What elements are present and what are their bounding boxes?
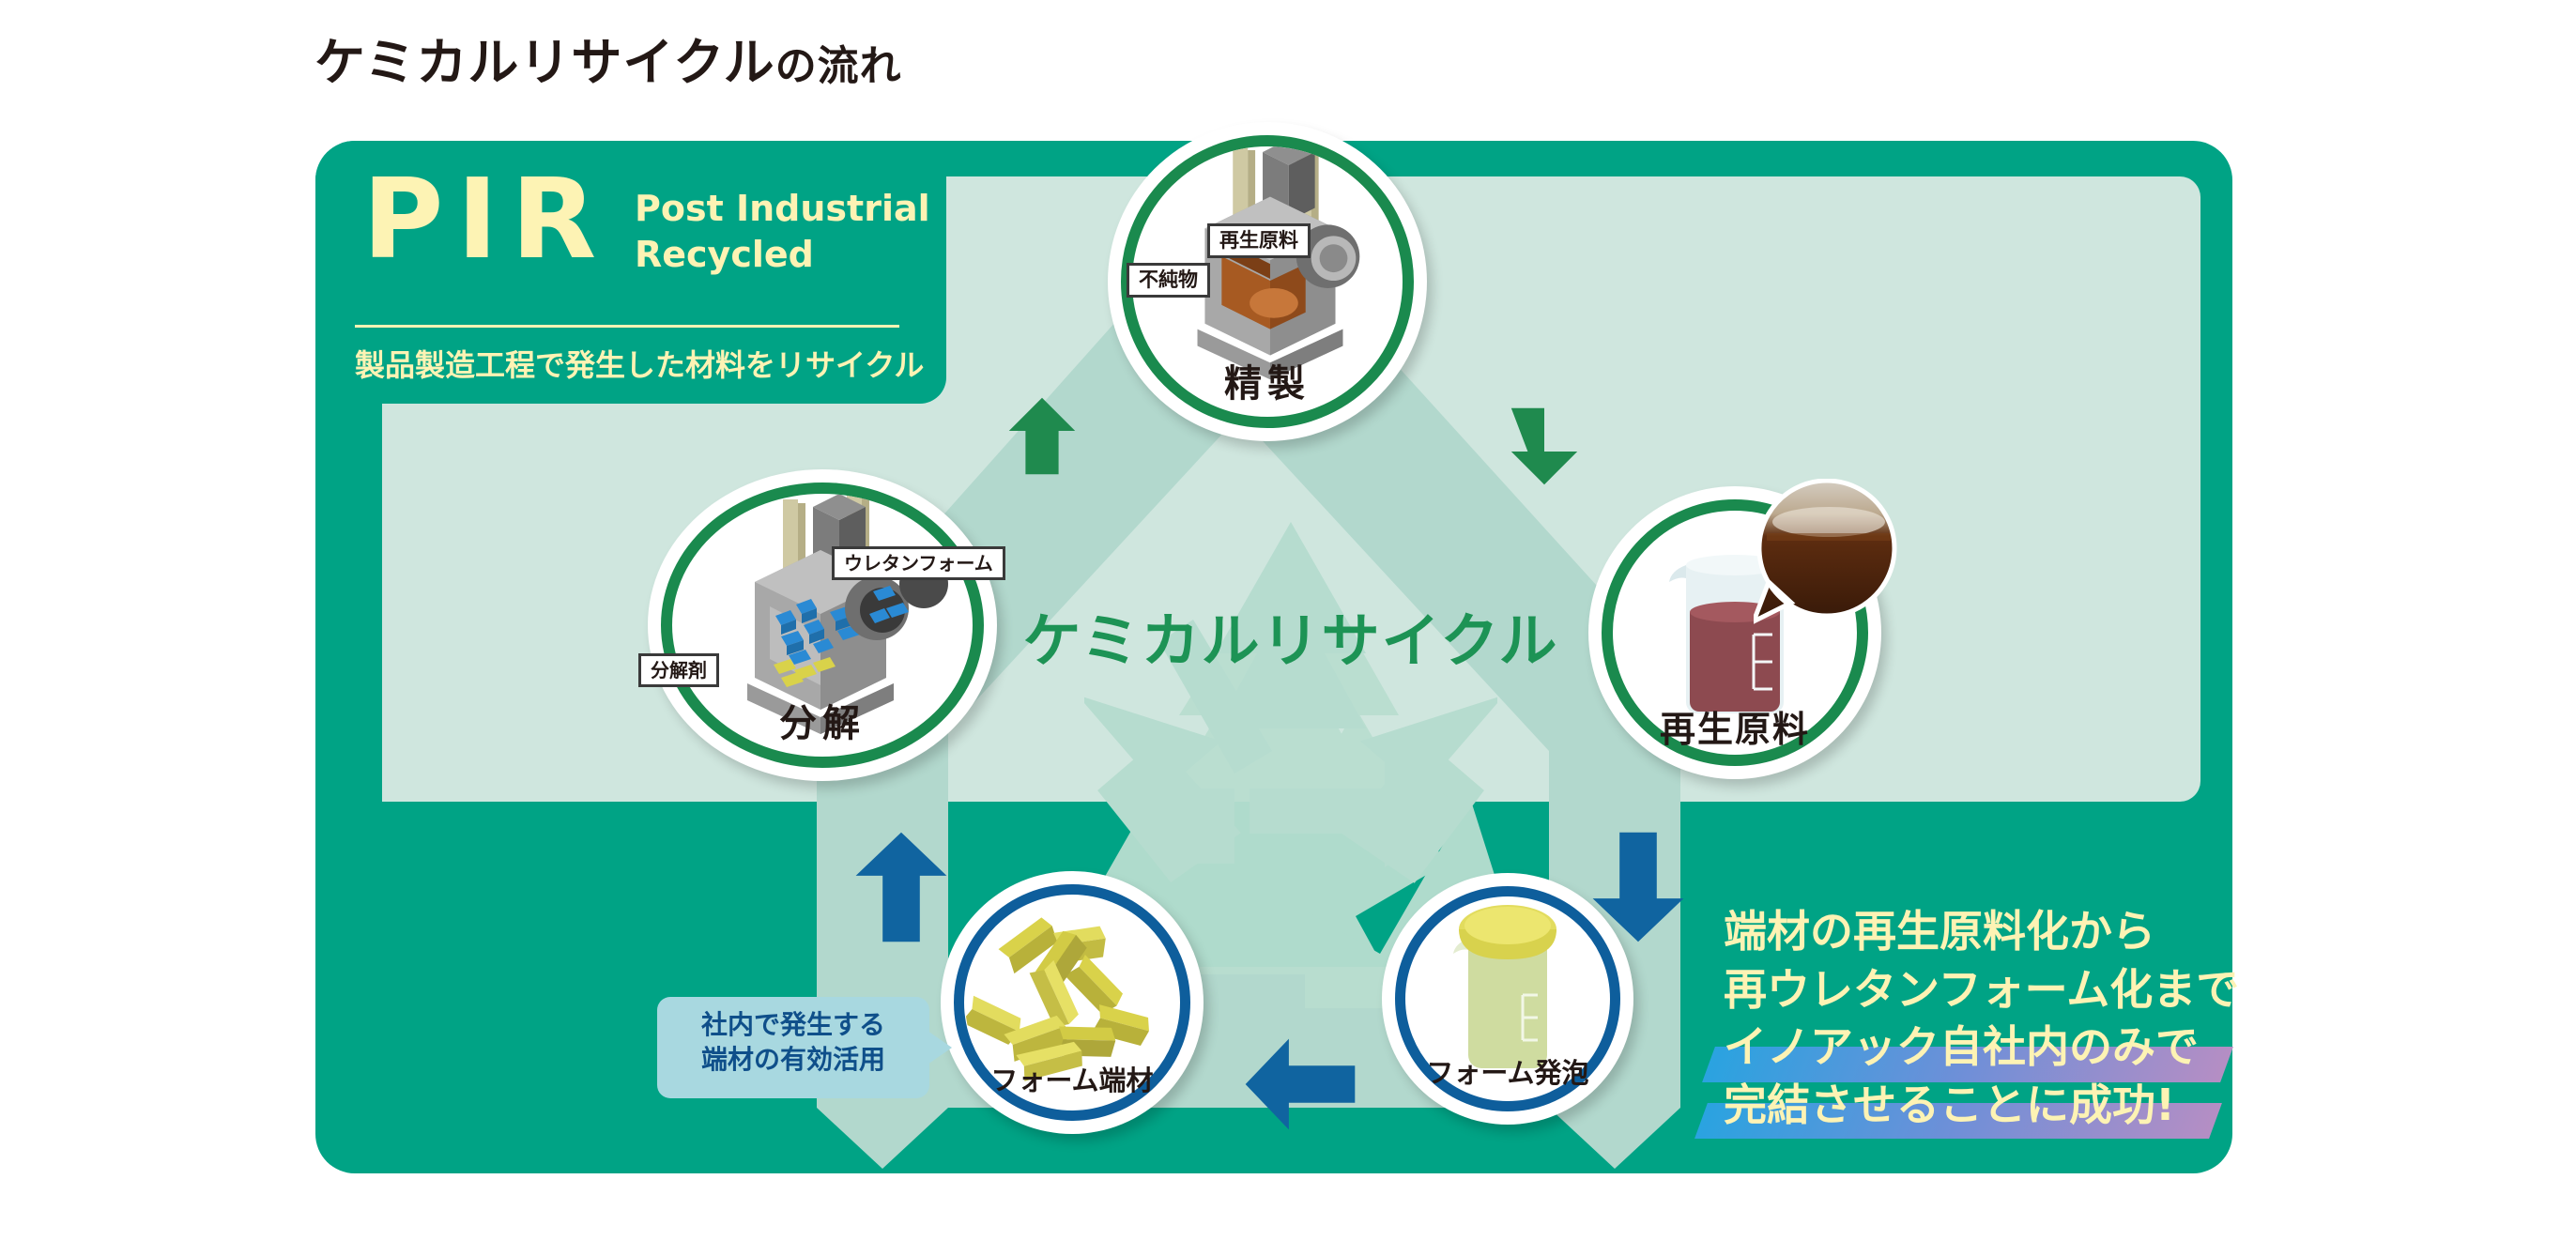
summary-message-line4: 完結させることに成功! (1724, 1077, 2231, 1135)
pir-expansion-line1: Post Industrial (635, 186, 930, 232)
pir-caption: 製品製造工程で発生した材料をリサイクル (355, 342, 924, 385)
node-refining[interactable]: 再生原料 不純物 精製 (1108, 122, 1427, 441)
center-label: ケミカルリサイクル (1009, 593, 1572, 678)
summary-message-line4-text: 完結させることに成功! (1724, 1080, 2175, 1130)
node-refining-label: 精製 (1108, 353, 1427, 407)
arrow-up-left-green-icon (990, 390, 1094, 493)
summary-message-line2: 再ウレタンフォーム化まで (1724, 961, 2231, 1019)
summary-message: 端材の再生原料化から 再ウレタンフォーム化まで イノアック自社内のみで 完結させ… (1724, 903, 2231, 1135)
arrow-left-blue-icon (1239, 1033, 1361, 1136)
pir-expansion-line2: Recycled (635, 232, 930, 278)
node-decomposition-label: 分解 (648, 693, 997, 747)
node-decomposition[interactable]: ウレタンフォーム 分解剤 分解 (648, 469, 997, 781)
tag-decomposing-agent: 分解剤 (638, 653, 719, 687)
liquid-photo-bubble (1754, 479, 1904, 638)
pir-expansion: Post Industrial Recycled (635, 186, 930, 277)
pir-badge: PIR Post Industrial Recycled 製品製造工程で発生した… (315, 141, 946, 404)
node-foaming-label: フォーム発泡 (1382, 1051, 1633, 1091)
pir-divider (355, 325, 899, 328)
node-foam-scrap-label: フォーム端材 (941, 1059, 1204, 1098)
page-title-main: ケミカルリサイクル (314, 33, 775, 92)
page-title-suffix: の流れ (775, 42, 902, 90)
page-title: ケミカルリサイクルの流れ (314, 21, 902, 95)
arrow-down-blue-icon (1587, 826, 1690, 948)
recycle-symbol-icon (1084, 507, 1497, 929)
node-recycled-material-label: 再生原料 (1588, 700, 1881, 752)
summary-message-line1: 端材の再生原料化から (1724, 903, 2231, 961)
pir-acronym: PIR (362, 163, 609, 274)
tag-recycled-material: 再生原料 (1207, 223, 1311, 258)
callout-bubble: 社内で発生する 端材の有効活用 (657, 997, 929, 1098)
arrow-up-blue-icon (850, 826, 953, 948)
tag-impurities: 不純物 (1127, 263, 1210, 298)
callout-bubble-text: 社内で発生する 端材の有効活用 (657, 1008, 929, 1078)
callout-bubble-line1: 社内で発生する (657, 1008, 929, 1043)
summary-message-line3-text: イノアック自社内のみで (1724, 1021, 2199, 1072)
infographic-canvas: ケミカルリサイクルの流れ (0, 0, 2576, 1256)
node-recycled-material[interactable]: 再生原料 (1588, 486, 1881, 779)
callout-bubble-line2: 端材の有効活用 (657, 1043, 929, 1078)
callout-bubble-tail (928, 1031, 952, 1065)
node-foam-scrap[interactable]: フォーム端材 (941, 871, 1204, 1134)
summary-message-line3: イノアック自社内のみで (1724, 1019, 2231, 1077)
tag-urethane-foam: ウレタンフォーム (832, 546, 1005, 580)
arrow-down-right-green-icon (1493, 390, 1596, 493)
